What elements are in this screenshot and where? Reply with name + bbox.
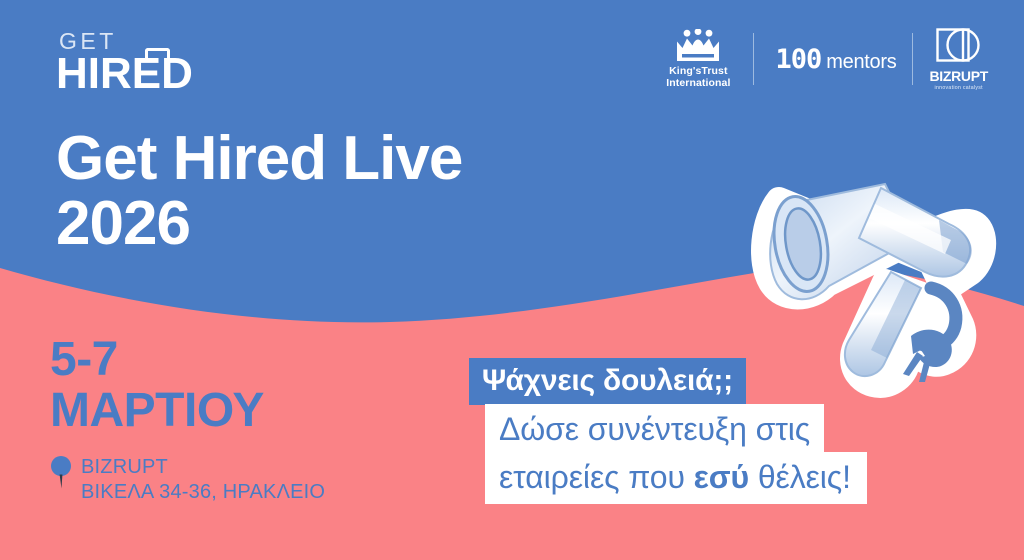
callout-row-3: εταιρείες που εσύ θέλεις! bbox=[485, 452, 867, 504]
kings-trust-line2: International bbox=[666, 78, 730, 90]
mentors-number: 100 bbox=[776, 44, 822, 75]
location-pin-icon bbox=[50, 455, 72, 489]
mentors-word: mentors bbox=[826, 51, 896, 74]
event-date: 5-7 ΜΑΡΤΙΟΥ bbox=[50, 335, 264, 437]
partner-divider bbox=[753, 33, 754, 85]
callout-block: Ψάχνεις δουλειά;; Δώσε συνέντευξη στις ε… bbox=[469, 358, 867, 504]
crown-with-figures-icon bbox=[671, 29, 725, 63]
partner-logo-kings-trust: King'sTrust International bbox=[666, 29, 730, 89]
page-title: Get Hired Live 2026 bbox=[56, 126, 462, 256]
callout-line-3-after: θέλεις! bbox=[749, 459, 851, 495]
bizrupt-wordmark: BIZRUPT bbox=[929, 68, 988, 84]
partner-logo-bar: King'sTrust International 100 mentors BI… bbox=[666, 26, 988, 92]
bizrupt-tagline: innovation catalyst bbox=[935, 85, 983, 91]
venue-lines: BIZRUPT ΒΙΚΕΛΑ 34-36, ΗΡΑΚΛΕΙΟ bbox=[81, 455, 325, 505]
event-date-month: ΜΑΡΤΙΟΥ bbox=[50, 385, 264, 437]
kings-trust-name: King'sTrust International bbox=[666, 66, 730, 89]
callout-line-3: εταιρείες που εσύ θέλεις! bbox=[485, 452, 867, 504]
square-circle-logo-icon bbox=[935, 27, 983, 67]
callout-line-3-before: εταιρείες που bbox=[499, 459, 694, 495]
get-hired-logo: GET HIRED bbox=[56, 30, 193, 96]
kings-trust-line1: King'sTrust bbox=[666, 66, 730, 78]
venue-info: BIZRUPT ΒΙΚΕΛΑ 34-36, ΗΡΑΚΛΕΙΟ bbox=[50, 455, 325, 505]
callout-line-2: Δώσε συνέντευξη στις bbox=[485, 404, 824, 452]
logo-hired-row: HIRED bbox=[56, 52, 193, 96]
event-date-days: 5-7 bbox=[50, 335, 264, 385]
logo-hired-text: HIRED bbox=[56, 52, 193, 96]
promo-banner: GET HIRED King'sTrust International bbox=[0, 0, 1024, 560]
partner-divider-2 bbox=[912, 33, 913, 85]
callout-row-2: Δώσε συνέντευξη στις bbox=[485, 404, 867, 452]
partner-logo-100mentors: 100 mentors bbox=[776, 44, 897, 75]
partner-logo-bizrupt: BIZRUPT innovation catalyst bbox=[929, 27, 988, 91]
callout-row-1: Ψάχνεις δουλειά;; bbox=[469, 358, 867, 405]
callout-line-3-bold: εσύ bbox=[694, 459, 749, 495]
callout-line-1: Ψάχνεις δουλειά;; bbox=[469, 358, 746, 405]
venue-address: ΒΙΚΕΛΑ 34-36, ΗΡΑΚΛΕΙΟ bbox=[81, 480, 325, 505]
venue-name: BIZRUPT bbox=[81, 455, 325, 480]
